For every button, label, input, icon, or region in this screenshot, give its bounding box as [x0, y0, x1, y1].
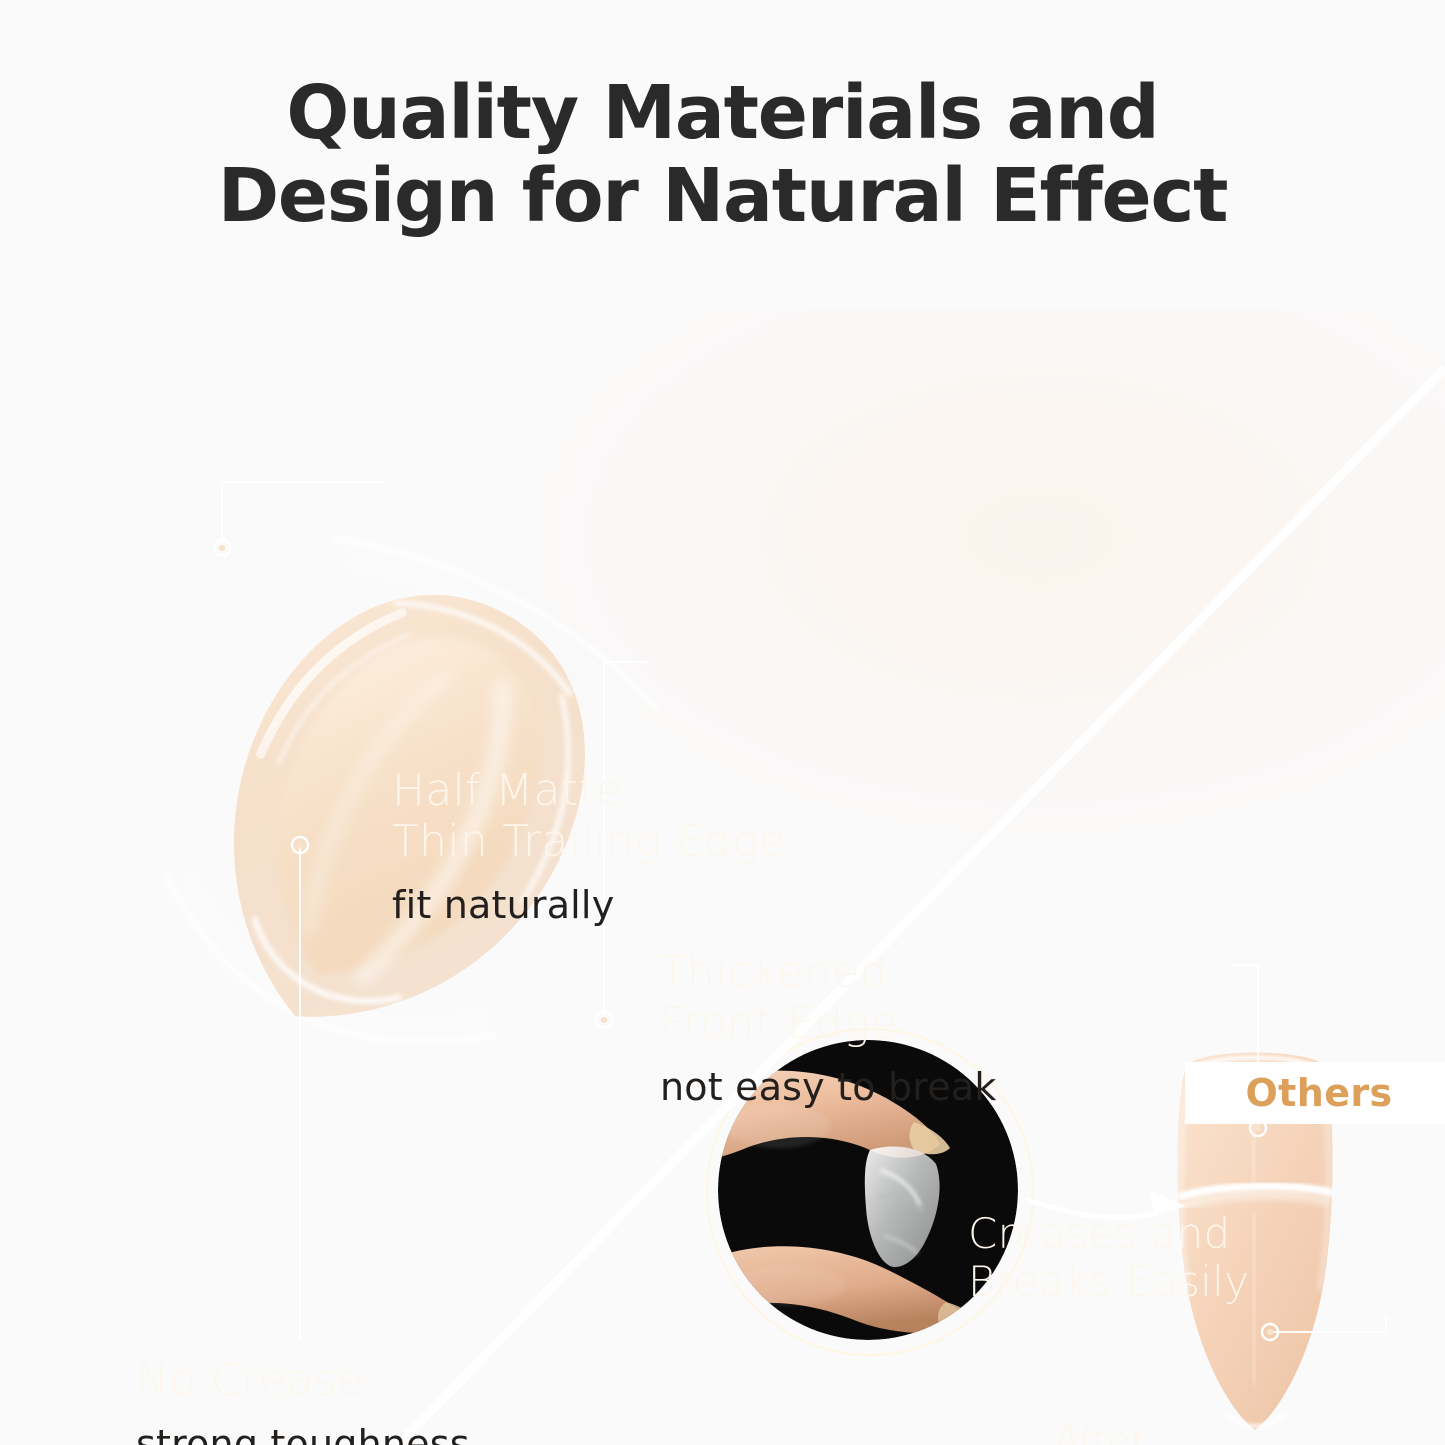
brand-badge-others-label: Others [1245, 1071, 1392, 1115]
comparison-panel: Half Matte Thin Trailing Edge fit natura… [0, 310, 1445, 1445]
callout-thickened-front-edge-headline: Thickened Front Edge [660, 947, 997, 1049]
callout-half-matte-headline: Half Matte Thin Trailing Edge [392, 765, 786, 867]
page-title-line-1: Quality Materials and [218, 72, 1228, 155]
brand-badge-others: Others [1185, 1062, 1445, 1124]
callout-thickened-front-edge-subline: not easy to break [660, 1065, 997, 1111]
header-banner: Quality Materials and Design for Natural… [0, 0, 1445, 310]
callout-half-matte-subline: fit naturally [392, 883, 786, 929]
lower-fingernail [938, 1302, 992, 1335]
callout-after-bend-headline: After Bend [1054, 1418, 1152, 1445]
callout-no-crease-headline: No Crease [136, 1355, 470, 1406]
callout-thickened-front-edge: Thickened Front Edge not easy to break [660, 947, 997, 1111]
callout-no-crease-subline: strong toughness [136, 1422, 470, 1445]
page-title-line-2: Design for Natural Effect [218, 155, 1228, 238]
page-title: Quality Materials and Design for Natural… [218, 72, 1228, 238]
callout-after-bend: After Bend [1054, 1418, 1152, 1445]
callout-no-crease: No Crease strong toughness [136, 1355, 470, 1445]
callout-creases-breaks-headline: Creases and Breaks Easily [968, 1210, 1249, 1306]
callout-half-matte: Half Matte Thin Trailing Edge fit natura… [392, 765, 786, 929]
infographic-root: Quality Materials and Design for Natural… [0, 0, 1445, 1445]
callout-creases-breaks: Creases and Breaks Easily [968, 1210, 1249, 1306]
